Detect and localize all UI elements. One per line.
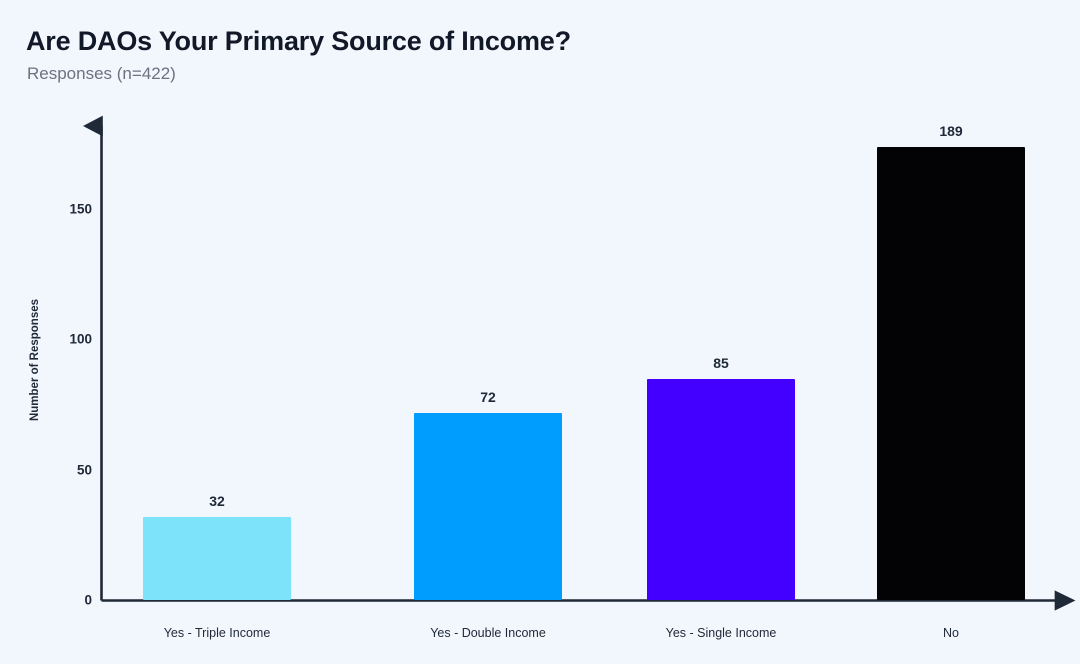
chart-page: Are DAOs Your Primary Source of Income? … (0, 0, 1080, 664)
bar-triple-income[interactable] (143, 517, 291, 600)
bar-value-triple-income: 32 (143, 493, 291, 509)
bars-layer: 32 Yes - Triple Income 72 Yes - Double I… (0, 0, 1080, 664)
bar-group-no[interactable]: 189 No (877, 100, 1025, 600)
bar-single-income[interactable] (647, 379, 795, 600)
bar-group-triple-income[interactable]: 32 Yes - Triple Income (143, 100, 291, 600)
bar-value-no: 189 (877, 123, 1025, 139)
bar-group-single-income[interactable]: 85 Yes - Single Income (647, 100, 795, 600)
plot-area: Number of Responses 0 50 100 150 32 Yes … (0, 0, 1080, 664)
bar-value-double-income: 72 (414, 389, 562, 405)
bar-no[interactable] (877, 147, 1025, 600)
x-label-no: No (851, 626, 1051, 640)
bar-double-income[interactable] (414, 413, 562, 600)
x-label-double-income: Yes - Double Income (388, 626, 588, 640)
x-label-triple-income: Yes - Triple Income (117, 626, 317, 640)
bar-group-double-income[interactable]: 72 Yes - Double Income (414, 100, 562, 600)
bar-value-single-income: 85 (647, 355, 795, 371)
x-label-single-income: Yes - Single Income (621, 626, 821, 640)
